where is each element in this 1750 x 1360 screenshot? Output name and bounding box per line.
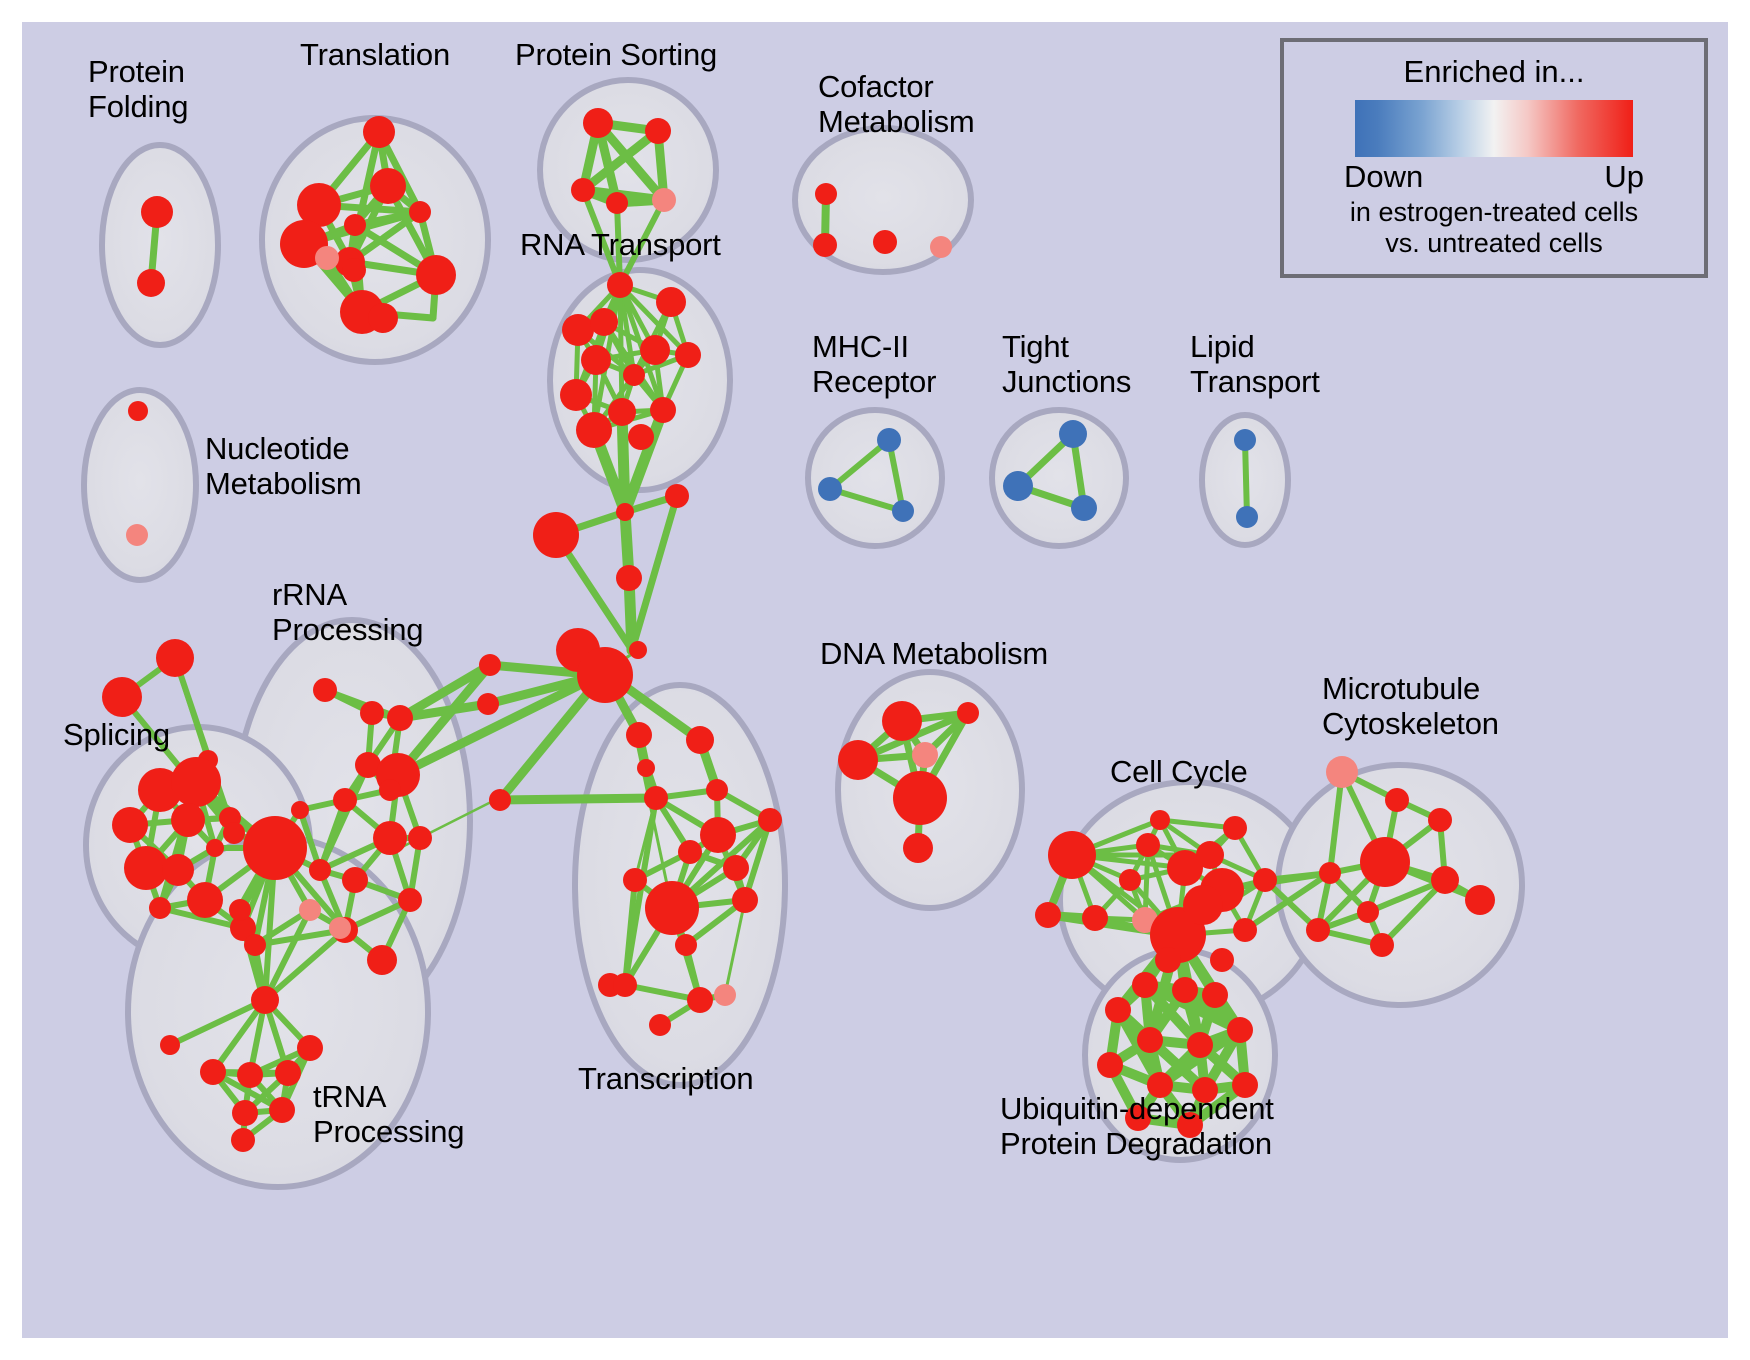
node (124, 846, 168, 890)
node (562, 314, 594, 346)
node (616, 503, 634, 521)
node (1357, 901, 1379, 923)
node (723, 855, 749, 881)
node (616, 565, 642, 591)
hull-protein-folding (102, 145, 218, 345)
node (838, 740, 878, 780)
node (1306, 918, 1330, 942)
node (732, 887, 758, 913)
node (818, 477, 842, 501)
node (313, 678, 337, 702)
node (387, 705, 413, 731)
node (1428, 808, 1452, 832)
node (678, 840, 702, 864)
node (606, 192, 628, 214)
node (626, 722, 652, 748)
node (930, 236, 952, 258)
node (675, 342, 701, 368)
node (1223, 816, 1247, 840)
cluster-label-splicing: Splicing (63, 718, 170, 753)
node (892, 500, 914, 522)
node (333, 788, 357, 812)
node (815, 183, 837, 205)
node (1048, 831, 1096, 879)
node (1059, 420, 1087, 448)
node (577, 647, 633, 703)
node (576, 412, 612, 448)
node (1105, 997, 1131, 1023)
node (623, 364, 645, 386)
node (687, 987, 713, 1013)
legend-low-label: Down (1344, 159, 1423, 195)
node (1234, 429, 1256, 451)
node (700, 817, 736, 853)
node (128, 401, 148, 421)
node (269, 1097, 295, 1123)
node (370, 168, 406, 204)
node (231, 1128, 255, 1152)
node (229, 899, 251, 921)
node (650, 397, 676, 423)
cluster-label-lipid-transport: Lipid Transport (1190, 330, 1320, 399)
node (1431, 866, 1459, 894)
node (416, 255, 456, 295)
legend-title: Enriched in... (1404, 54, 1585, 90)
node (1210, 948, 1234, 972)
node (275, 1060, 301, 1086)
node (1150, 810, 1170, 830)
node (560, 379, 592, 411)
node (409, 201, 431, 223)
node (329, 917, 351, 939)
cluster-label-rrna-processing: rRNA Processing (272, 578, 423, 647)
node (342, 258, 366, 282)
node (608, 398, 636, 426)
cluster-label-rna-transport: RNA Transport (520, 228, 721, 263)
cluster-label-translation: Translation (300, 38, 450, 73)
node (237, 1062, 263, 1088)
node (583, 108, 613, 138)
node (187, 882, 223, 918)
node (477, 693, 499, 715)
node (656, 287, 686, 317)
node (637, 759, 655, 777)
node (644, 786, 668, 810)
node (640, 335, 670, 365)
legend-subtitle-line-2: vs. untreated cells (1385, 228, 1603, 259)
node (1003, 471, 1033, 501)
node (1183, 885, 1223, 925)
node (102, 677, 142, 717)
node (628, 424, 654, 450)
node (714, 984, 736, 1006)
node (1187, 1032, 1213, 1058)
node (299, 899, 321, 921)
node (1172, 977, 1198, 1003)
node (1370, 933, 1394, 957)
node (137, 269, 165, 297)
node (126, 524, 148, 546)
node (1233, 918, 1257, 942)
figure-canvas: Protein Folding Translation Protein Sort… (0, 0, 1750, 1360)
node (112, 807, 148, 843)
node (244, 934, 266, 956)
node (160, 1035, 180, 1055)
node (613, 973, 637, 997)
node (1137, 1027, 1163, 1053)
node (706, 779, 728, 801)
node (1119, 869, 1141, 891)
node (652, 188, 676, 212)
cluster-label-transcription: Transcription (578, 1062, 753, 1097)
node (223, 822, 245, 844)
node (533, 512, 579, 558)
node (291, 801, 309, 819)
node (877, 428, 901, 452)
node (360, 701, 384, 725)
node (232, 1100, 258, 1126)
node (1227, 1017, 1253, 1043)
node (649, 1014, 671, 1036)
node (1196, 841, 1224, 869)
node (571, 178, 595, 202)
node (607, 272, 633, 298)
node (1132, 972, 1158, 998)
legend-subtitle-line-1: in estrogen-treated cells (1350, 197, 1638, 228)
node (373, 821, 407, 855)
node (243, 816, 307, 880)
node (675, 934, 697, 956)
node (297, 1035, 323, 1061)
node (1236, 506, 1258, 528)
cluster-label-dna-metabolism: DNA Metabolism (820, 637, 1048, 672)
legend-box: Enriched in... Down Up in estrogen-treat… (1280, 38, 1708, 278)
cluster-label-tight-junctions: Tight Junctions (1002, 330, 1131, 399)
node (665, 484, 689, 508)
node (1385, 788, 1409, 812)
node (408, 826, 432, 850)
cluster-label-cell-cycle: Cell Cycle (1110, 755, 1248, 790)
node (629, 641, 647, 659)
node (171, 757, 221, 807)
cluster-label-protein-folding: Protein Folding (88, 55, 188, 124)
node (1253, 868, 1277, 892)
node (344, 214, 366, 236)
node (1035, 902, 1061, 928)
node (590, 308, 618, 336)
cluster-label-nucleotide-metabolism: Nucleotide Metabolism (205, 432, 362, 501)
legend-color-gradient-bar (1355, 100, 1633, 157)
node (379, 779, 401, 801)
node (1319, 862, 1341, 884)
node (645, 118, 671, 144)
node (315, 246, 339, 270)
legend-endpoint-labels: Down Up (1344, 159, 1644, 195)
node (342, 867, 368, 893)
node (162, 854, 194, 886)
legend-high-label: Up (1604, 159, 1644, 195)
node (903, 833, 933, 863)
node (156, 639, 194, 677)
cluster-label-mhc-ii-receptor: MHC-II Receptor (812, 330, 936, 399)
cluster-label-protein-sorting: Protein Sorting (515, 38, 717, 73)
node (1097, 1052, 1123, 1078)
node (873, 230, 897, 254)
node (686, 726, 714, 754)
cluster-label-trna-processing: tRNA Processing (313, 1080, 464, 1149)
node (398, 888, 422, 912)
node (893, 771, 947, 825)
node (1326, 756, 1358, 788)
node (367, 945, 397, 975)
node (309, 859, 331, 881)
node (758, 808, 782, 832)
node (581, 345, 611, 375)
cluster-label-cofactor-metabolism: Cofactor Metabolism (818, 70, 975, 139)
node (623, 868, 647, 892)
node (813, 233, 837, 257)
node (489, 789, 511, 811)
node (957, 702, 979, 724)
node (1360, 837, 1410, 887)
node (645, 881, 699, 935)
node (1465, 885, 1495, 915)
node (1155, 947, 1181, 973)
node (141, 196, 173, 228)
node (1082, 905, 1108, 931)
node (206, 839, 224, 857)
node (149, 897, 171, 919)
node (251, 986, 279, 1014)
node (363, 116, 395, 148)
cluster-label-ubiquitin-protein-degradation: Ubiquitin-dependent Protein Degradation (1000, 1092, 1274, 1161)
node (1136, 833, 1160, 857)
node (1202, 982, 1228, 1008)
node (171, 803, 205, 837)
node (912, 742, 938, 768)
node (368, 303, 398, 333)
node (882, 701, 922, 741)
node (1071, 495, 1097, 521)
node (200, 1059, 226, 1085)
cluster-label-microtubule-cytoskeleton: Microtubule Cytoskeleton (1322, 672, 1499, 741)
node (479, 654, 501, 676)
